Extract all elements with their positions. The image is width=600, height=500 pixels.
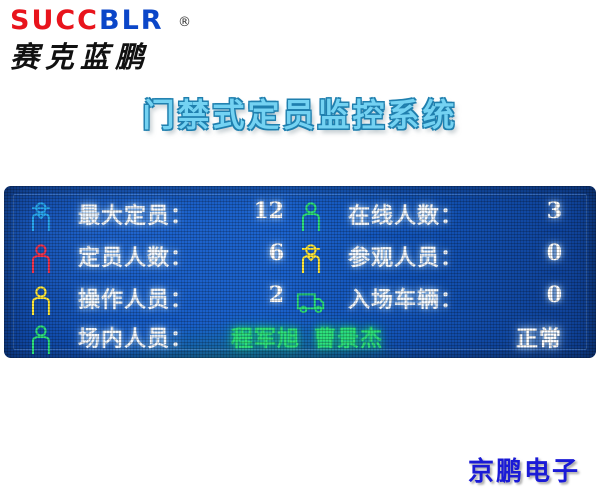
personnel-name: 曹景杰 [314,327,383,352]
led-content-grid: 最大定员： 12 在线人数： 3 [4,186,596,358]
footer-brand: 京鹏电子 [468,451,580,488]
led-value: 0 [547,240,562,266]
led-value: 6 [269,240,284,266]
led-field-quota-count: 定员人数： 6 [26,238,294,278]
led-value: 3 [547,198,562,224]
led-row: 定员人数： 6 参观人员： 0 [4,238,596,278]
led-row: 场内人员： 程军旭曹景杰 正常 [4,319,596,358]
status-badge: 正常 [516,321,562,353]
led-value: 2 [269,282,284,308]
led-field-visitor-count: 参观人员： 0 [296,238,578,278]
personnel-name: 程军旭 [231,327,300,352]
led-row: 操作人员： 2 入场车辆： 0 [4,280,596,320]
person-icon [296,200,326,232]
registered-trademark-icon: ® [178,8,191,38]
truck-icon [296,284,326,316]
led-label: 最大定员： [78,198,193,230]
person-icon [26,323,56,355]
led-label: 参观人员： [348,240,463,272]
page-title: 门禁式定员监控系统 [0,90,600,136]
led-label: 入场车辆： [348,282,463,314]
led-field-operator-count: 操作人员： 2 [26,280,294,320]
onsite-personnel-names: 程军旭曹景杰 [231,321,397,353]
brand-wordmark-part2: BLR [99,5,164,36]
person-icon [26,284,56,316]
brand-chinese-name: 赛克蓝鹏 [10,40,240,74]
led-label: 操作人员： [78,282,193,314]
led-field-onsite-personnel: 场内人员： 程军旭曹景杰 正常 [26,319,578,358]
led-label: 定员人数： [78,240,193,272]
brand-wordmark-part1: SUCC [10,5,99,36]
led-value: 12 [253,198,284,224]
led-display-panel: 最大定员： 12 在线人数： 3 [4,186,596,358]
led-label: 场内人员： [78,321,193,353]
led-label: 在线人数： [348,198,463,230]
led-field-online-count: 在线人数： 3 [296,196,578,236]
person-with-cap-icon [296,242,326,274]
led-field-vehicle-count: 入场车辆： 0 [296,280,578,320]
led-value: 0 [547,282,562,308]
led-field-max-capacity: 最大定员： 12 [26,196,294,236]
person-with-cap-icon [26,200,56,232]
brand-logo: SUCCBLR ® 赛克蓝鹏 [10,6,240,76]
brand-wordmark: SUCCBLR ® [10,6,240,38]
led-row: 最大定员： 12 在线人数： 3 [4,196,596,236]
person-icon [26,242,56,274]
